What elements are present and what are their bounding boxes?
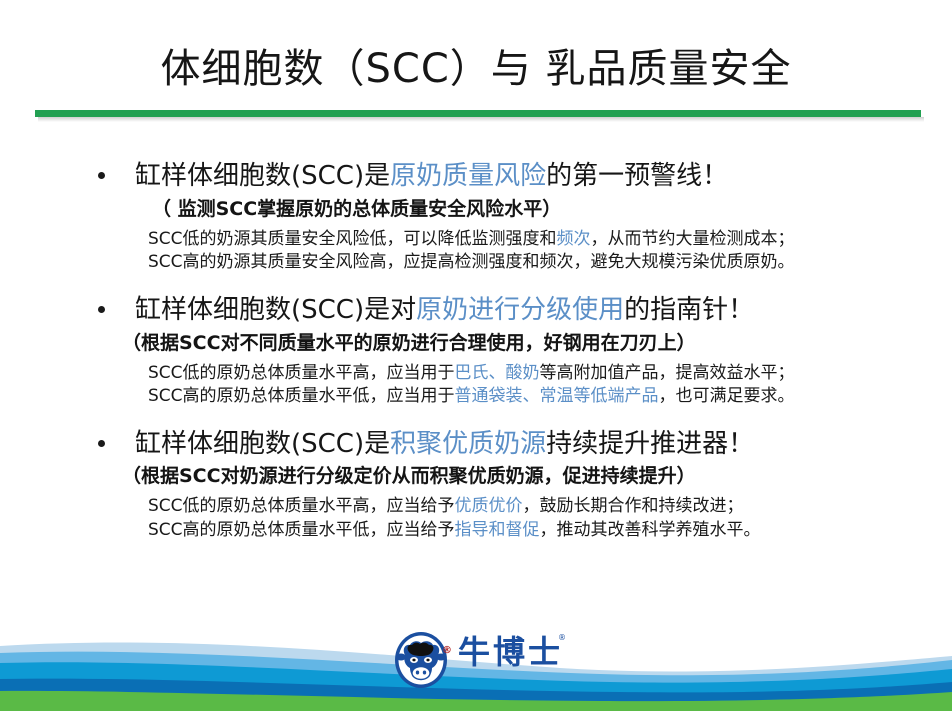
detail-line-1-2: SCC高的奶源其质量安全风险高，应提高检测强度和频次，避免大规模污染优质原奶。 <box>148 251 952 274</box>
detail-2-1-pre: SCC低的原奶总体质量水平高，应当用于 <box>148 363 455 383</box>
bullet-subline-2: （根据SCC对不同质量水平的原奶进行合理使用，好钢用在刀刃上） <box>0 330 952 357</box>
title-rule-bar <box>35 110 921 117</box>
bullet-row-3: 缸样体细胞数(SCC)是积聚优质奶源持续提升推进器！ <box>0 426 952 463</box>
body-content: 缸样体细胞数(SCC)是原奶质量风险的第一预警线！ （ 监测SCC掌握原奶的总体… <box>0 158 952 559</box>
bullet-row-2: 缸样体细胞数(SCC)是对原奶进行分级使用的指南针！ <box>0 292 952 329</box>
bullet-heading-2-highlight: 原奶进行分级使用 <box>416 295 624 325</box>
registered-mark-icon: ® <box>442 645 452 656</box>
detail-1-2-pre: SCC高的奶源其质量安全风险高，应提高检测强度和频次，避免大规模污染优质原奶。 <box>148 252 795 272</box>
detail-2-2-post: ，也可满足要求。 <box>659 386 795 406</box>
bullet-dot-icon <box>98 172 105 179</box>
trademark-mark-icon: ® <box>558 633 566 642</box>
bullet-heading-2-post: 的指南针！ <box>624 295 754 325</box>
title-underline-rule <box>35 110 921 124</box>
bullet-group-3: 缸样体细胞数(SCC)是积聚优质奶源持续提升推进器！ （根据SCC对奶源进行分级… <box>0 426 952 543</box>
bullet-subline-3: （根据SCC对奶源进行分级定价从而积聚优质奶源，促进持续提升） <box>0 463 952 490</box>
bullet-heading-1-highlight: 原奶质量风险 <box>390 161 546 191</box>
detail-line-2-1: SCC低的原奶总体质量水平高，应当用于巴氏、酸奶等高附加值产品，提高效益水平； <box>148 362 952 385</box>
brand-name: 牛博士 <box>458 636 563 668</box>
detail-line-2-2: SCC高的原奶总体质量水平低，应当用于普通袋装、常温等低端产品，也可满足要求。 <box>148 385 952 408</box>
bullet-heading-3: 缸样体细胞数(SCC)是积聚优质奶源持续提升推进器！ <box>135 426 952 463</box>
cow-head-logo-icon <box>392 631 450 689</box>
detail-block-1: SCC低的奶源其质量安全风险低，可以降低监测强度和频次，从而节约大量检测成本； … <box>0 228 952 275</box>
detail-3-1-pre: SCC低的原奶总体质量水平高，应当给予 <box>148 496 455 516</box>
detail-1-1-highlight: 频次 <box>557 229 591 249</box>
page-title: 体细胞数（SCC）与 乳品质量安全 <box>0 46 952 92</box>
detail-1-1-pre: SCC低的奶源其质量安全风险低，可以降低监测强度和 <box>148 229 557 249</box>
bullet-heading-3-post: 持续提升推进器！ <box>546 429 754 459</box>
detail-2-1-highlight: 巴氏、酸奶 <box>455 363 540 383</box>
bullet-subline-1: （ 监测SCC掌握原奶的总体质量安全风险水平） <box>0 196 952 223</box>
detail-3-2-highlight: 指导和督促 <box>455 520 540 540</box>
title-rule-shadow <box>38 117 924 122</box>
detail-3-2-pre: SCC高的原奶总体质量水平低，应当给予 <box>148 520 455 540</box>
bullet-heading-1-post: 的第一预警线！ <box>546 161 728 191</box>
detail-3-1-post: ，鼓励长期合作和持续改进； <box>523 496 744 516</box>
bullet-heading-2: 缸样体细胞数(SCC)是对原奶进行分级使用的指南针！ <box>135 292 952 329</box>
bullet-heading-1-pre: 缸样体细胞数(SCC)是 <box>135 161 390 191</box>
detail-block-2: SCC低的原奶总体质量水平高，应当用于巴氏、酸奶等高附加值产品，提高效益水平； … <box>0 362 952 409</box>
bullet-dot-icon <box>98 306 105 313</box>
bullet-row-1: 缸样体细胞数(SCC)是原奶质量风险的第一预警线！ <box>0 158 952 195</box>
detail-block-3: SCC低的原奶总体质量水平高，应当给予优质优价，鼓励长期合作和持续改进； SCC… <box>0 495 952 542</box>
bullet-heading-3-pre: 缸样体细胞数(SCC)是 <box>135 429 390 459</box>
bullet-group-1: 缸样体细胞数(SCC)是原奶质量风险的第一预警线！ （ 监测SCC掌握原奶的总体… <box>0 158 952 275</box>
title-block: 体细胞数（SCC）与 乳品质量安全 <box>0 46 952 92</box>
detail-2-2-highlight: 普通袋装、常温等低端产品 <box>455 386 659 406</box>
detail-3-1-highlight: 优质优价 <box>455 496 523 516</box>
slide-canvas: 体细胞数（SCC）与 乳品质量安全 缸样体细胞数(SCC)是原奶质量风险的第一预… <box>0 0 952 711</box>
detail-line-3-1: SCC低的原奶总体质量水平高，应当给予优质优价，鼓励长期合作和持续改进； <box>148 495 952 518</box>
brand-logo: ® 牛博士 ® <box>392 631 577 689</box>
detail-2-1-post: 等高附加值产品，提高效益水平； <box>540 363 795 383</box>
bullet-heading-3-highlight: 积聚优质奶源 <box>390 429 546 459</box>
bullet-dot-icon <box>98 440 105 447</box>
bullet-heading-1: 缸样体细胞数(SCC)是原奶质量风险的第一预警线！ <box>135 158 952 195</box>
detail-1-1-post: ，从而节约大量检测成本； <box>591 229 795 249</box>
detail-2-2-pre: SCC高的原奶总体质量水平低，应当用于 <box>148 386 455 406</box>
detail-3-2-post: ，推动其改善科学养殖水平。 <box>540 520 761 540</box>
detail-line-3-2: SCC高的原奶总体质量水平低，应当给予指导和督促，推动其改善科学养殖水平。 <box>148 519 952 542</box>
bullet-heading-2-pre: 缸样体细胞数(SCC)是对 <box>135 295 416 325</box>
detail-line-1-1: SCC低的奶源其质量安全风险低，可以降低监测强度和频次，从而节约大量检测成本； <box>148 228 952 251</box>
bullet-group-2: 缸样体细胞数(SCC)是对原奶进行分级使用的指南针！ （根据SCC对不同质量水平… <box>0 292 952 409</box>
